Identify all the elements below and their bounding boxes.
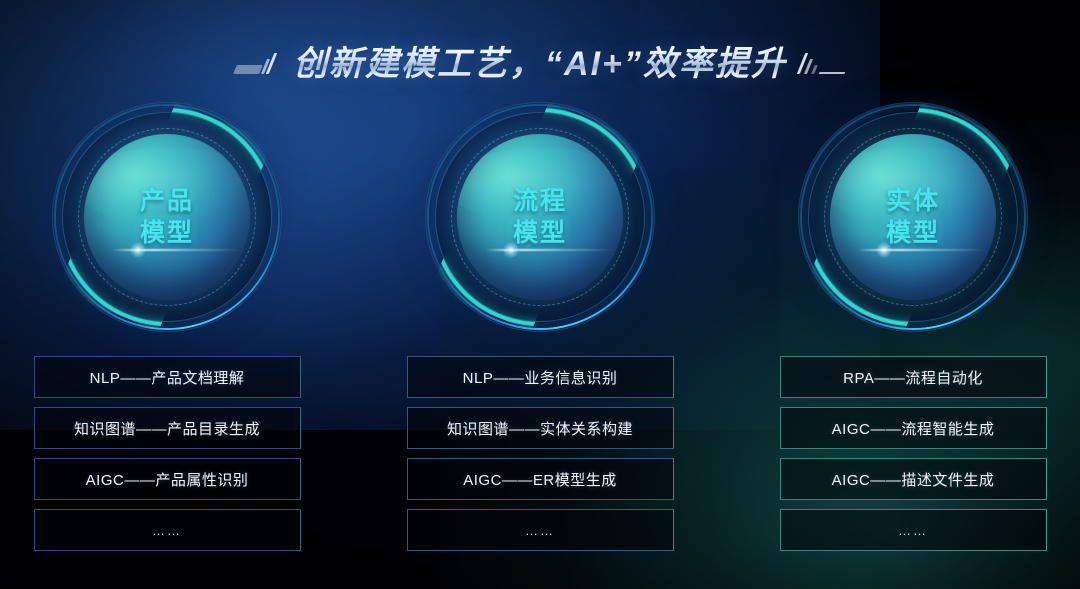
orb-entity-model[interactable]: 实体 模型 <box>798 102 1028 332</box>
list-item[interactable]: AIGC——产品属性识别 <box>34 458 301 500</box>
orb-product-model[interactable]: 产品 模型 <box>52 102 282 332</box>
list-item-ellipsis[interactable]: …… <box>780 509 1047 551</box>
item-list-product-model: NLP——产品文档理解 知识图谱——产品目录生成 AIGC——产品属性识别 …… <box>34 356 301 551</box>
list-item[interactable]: AIGC——ER模型生成 <box>407 458 674 500</box>
column-process-model: 流程 模型 NLP——业务信息识别 知识图谱——实体关系构建 AIGC——ER模… <box>407 96 674 566</box>
orb-core: 实体 模型 <box>830 134 996 300</box>
title-right-decoration-icon <box>801 48 845 74</box>
list-item-ellipsis[interactable]: …… <box>407 509 674 551</box>
list-item[interactable]: AIGC——流程智能生成 <box>780 407 1047 449</box>
orb-core: 产品 模型 <box>84 134 250 300</box>
list-item[interactable]: NLP——业务信息识别 <box>407 356 674 398</box>
orb-label-line2: 模型 <box>140 217 194 249</box>
orb-process-model[interactable]: 流程 模型 <box>425 102 655 332</box>
item-list-process-model: NLP——业务信息识别 知识图谱——实体关系构建 AIGC——ER模型生成 …… <box>407 356 674 551</box>
model-columns: 产品 模型 NLP——产品文档理解 知识图谱——产品目录生成 AIGC——产品属… <box>0 96 1080 566</box>
orb-label-line1: 实体 <box>886 185 940 217</box>
title-left-decoration-icon <box>235 48 279 74</box>
list-item[interactable]: 知识图谱——产品目录生成 <box>34 407 301 449</box>
orb-label-line1: 流程 <box>513 185 567 217</box>
list-item[interactable]: AIGC——描述文件生成 <box>780 458 1047 500</box>
orb-label-line2: 模型 <box>513 217 567 249</box>
list-item-ellipsis[interactable]: …… <box>34 509 301 551</box>
list-item[interactable]: RPA——流程自动化 <box>780 356 1047 398</box>
slide-title-row: 创新建模工艺，“AI+”效率提升 <box>0 36 1080 85</box>
column-entity-model: 实体 模型 RPA——流程自动化 AIGC——流程智能生成 AIGC——描述文件… <box>780 96 1047 566</box>
list-item[interactable]: NLP——产品文档理解 <box>34 356 301 398</box>
page-title: 创新建模工艺，“AI+”效率提升 <box>293 36 787 85</box>
column-product-model: 产品 模型 NLP——产品文档理解 知识图谱——产品目录生成 AIGC——产品属… <box>34 96 301 566</box>
orb-core: 流程 模型 <box>457 134 623 300</box>
orb-label-line1: 产品 <box>140 185 194 217</box>
orb-label-line2: 模型 <box>886 217 940 249</box>
list-item[interactable]: 知识图谱——实体关系构建 <box>407 407 674 449</box>
item-list-entity-model: RPA——流程自动化 AIGC——流程智能生成 AIGC——描述文件生成 …… <box>780 356 1047 551</box>
